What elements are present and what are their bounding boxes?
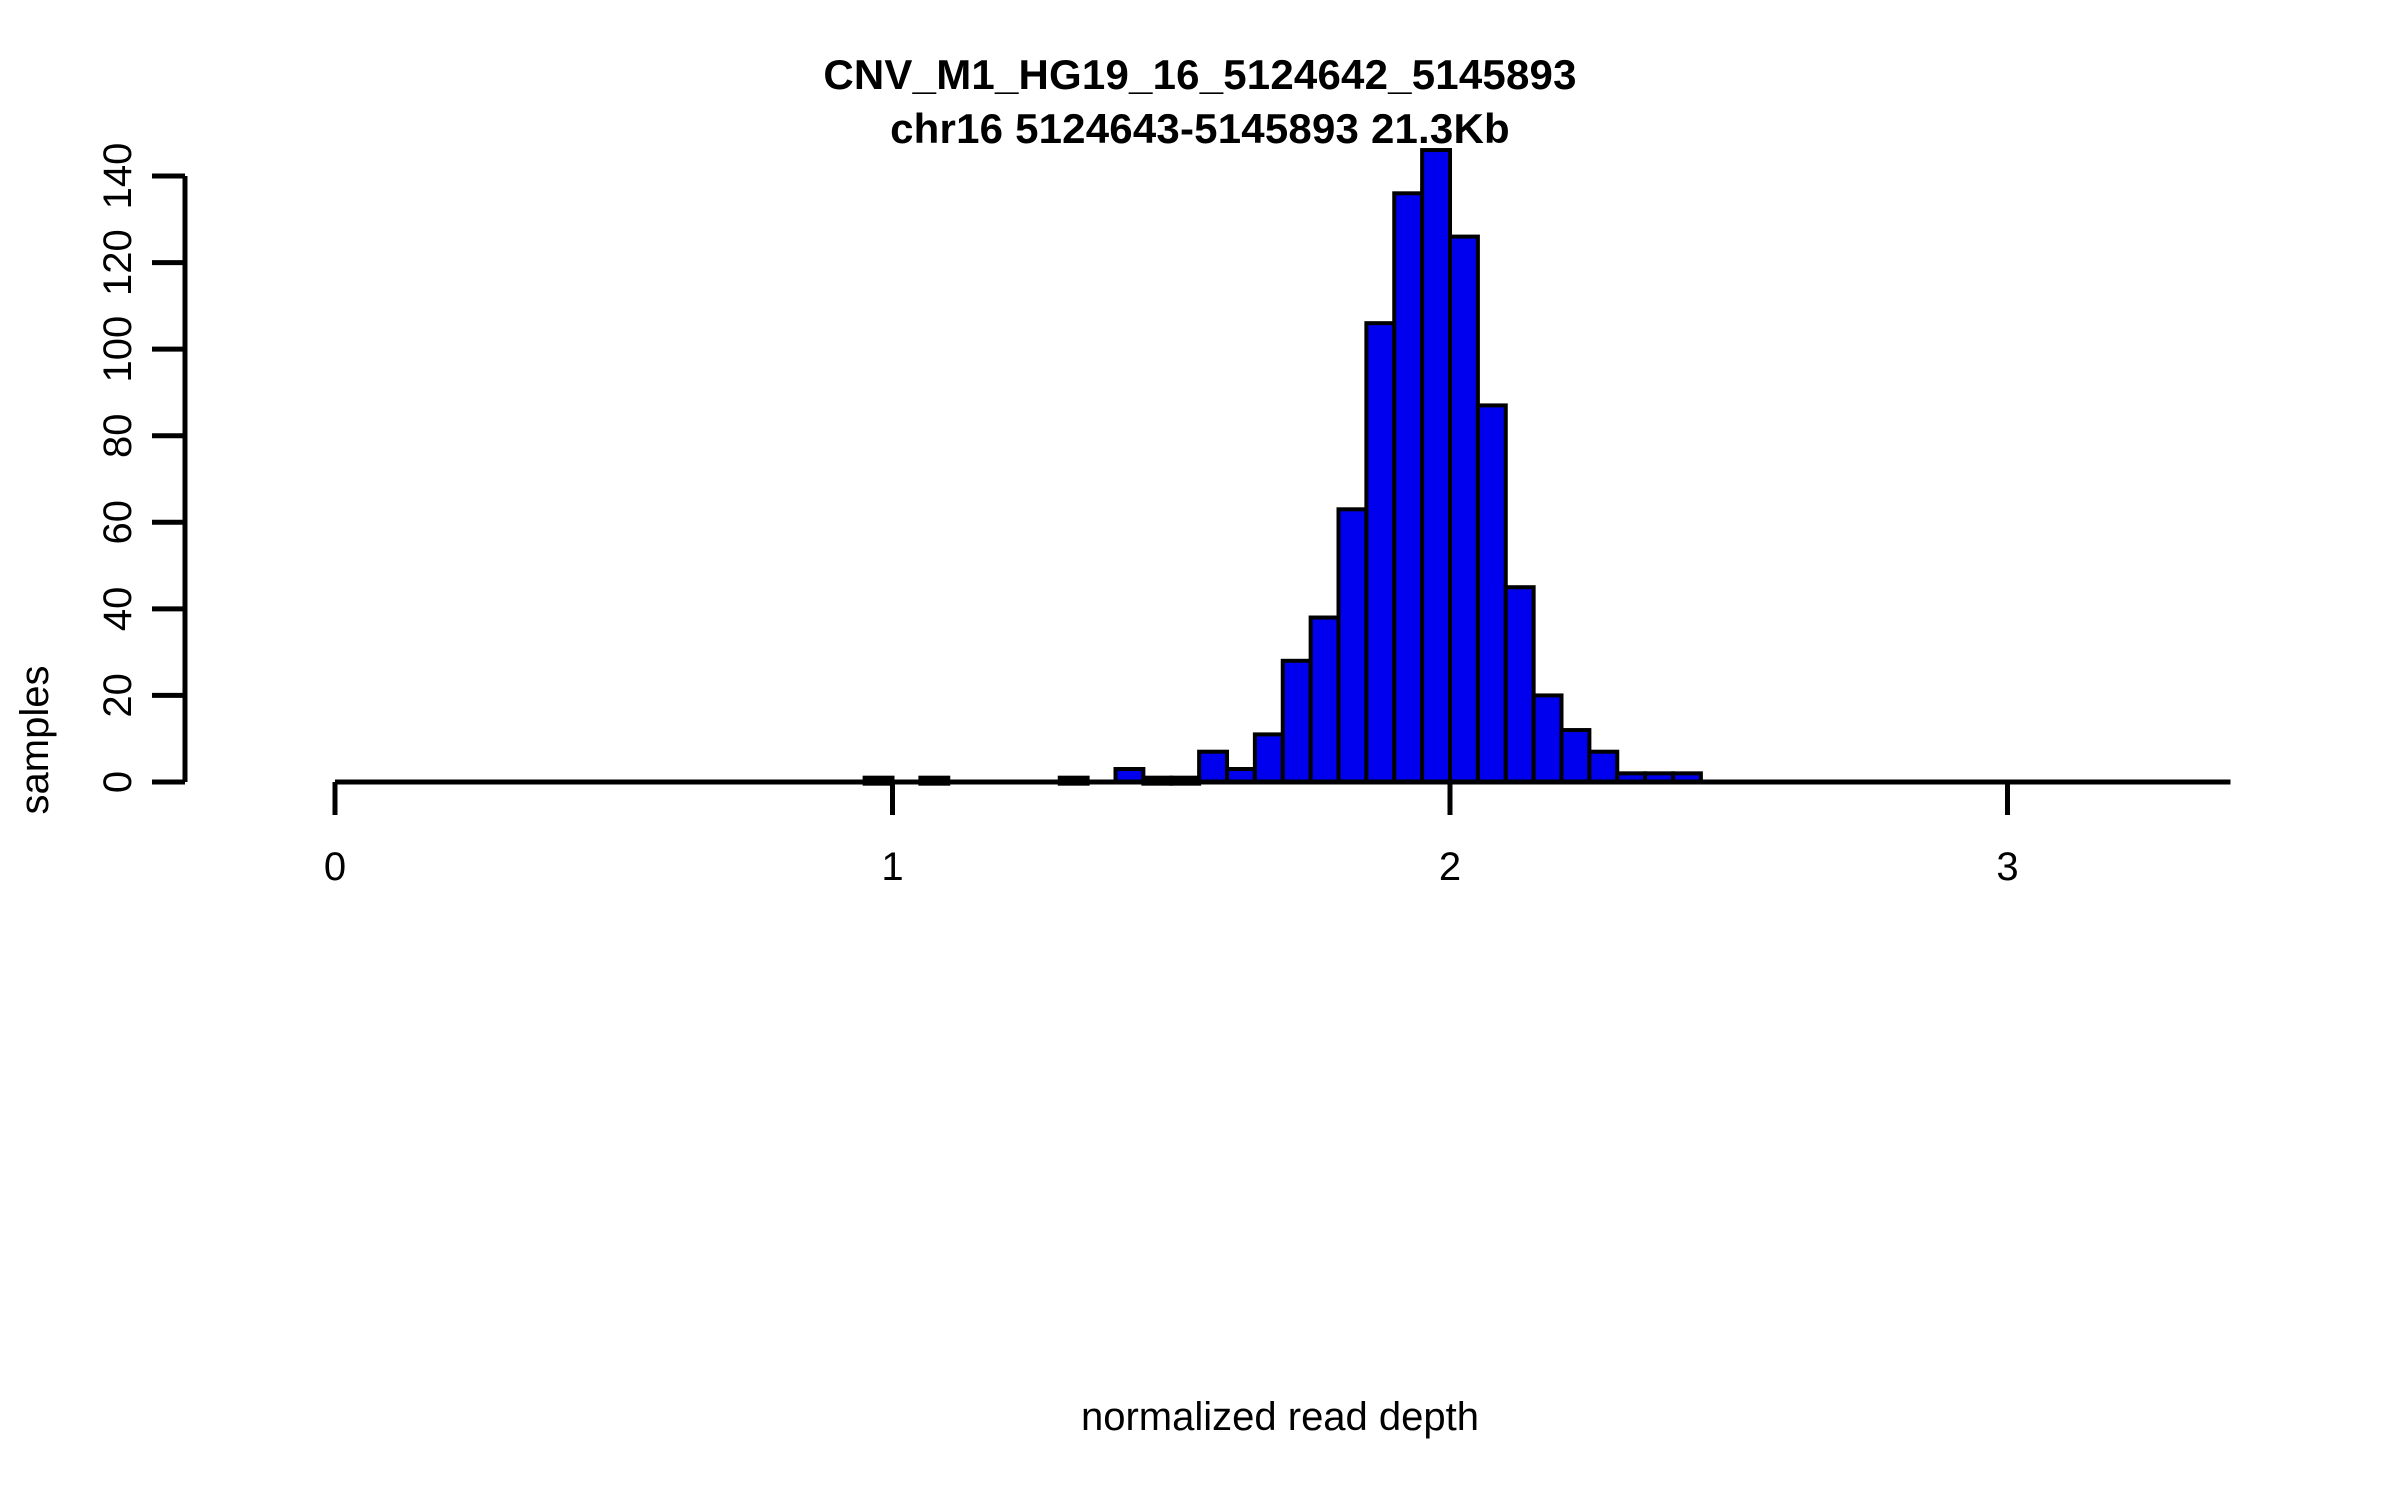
y-axis-title: samples [13,666,57,815]
histogram-bar [1394,193,1422,782]
axes [152,176,2231,815]
x-tick-label: 1 [881,845,903,889]
histogram-bar [1422,150,1450,782]
histogram-bar [1534,695,1562,782]
axis-tick-labels: 0204060801001201400123 [96,143,2019,889]
plot-window: CNV_M1_HG19_16_5124642_5145893 chr16 512… [0,0,2400,1500]
histogram-plot-area: 0204060801001201400123 normalized read d… [0,0,2400,1500]
y-tick-label: 0 [96,771,140,793]
histogram-bar [1311,618,1339,782]
y-tick-label: 40 [96,587,140,632]
x-tick-label: 0 [324,845,346,889]
x-tick-label: 3 [1996,845,2018,889]
histogram-bar [1562,730,1590,782]
x-axis-title: normalized read depth [1081,1395,1479,1439]
histogram-svg: 0204060801001201400123 normalized read d… [0,0,2400,1500]
histogram-bar [1366,323,1394,782]
y-tick-label: 140 [96,143,140,210]
y-tick-label: 60 [96,500,140,545]
histogram-bar [1199,752,1227,782]
histogram-bar [1506,587,1534,782]
x-tick-label: 2 [1439,845,1461,889]
y-tick-label: 80 [96,413,140,458]
histogram-bars [865,150,1701,784]
histogram-bar [1339,509,1367,782]
y-tick-label: 20 [96,673,140,718]
histogram-bar [1450,237,1478,782]
histogram-bar [1589,752,1617,782]
histogram-bar [1255,734,1283,782]
y-tick-label: 100 [96,316,140,383]
histogram-bar [1283,661,1311,782]
y-tick-label: 120 [96,229,140,296]
histogram-bar [1478,405,1506,782]
